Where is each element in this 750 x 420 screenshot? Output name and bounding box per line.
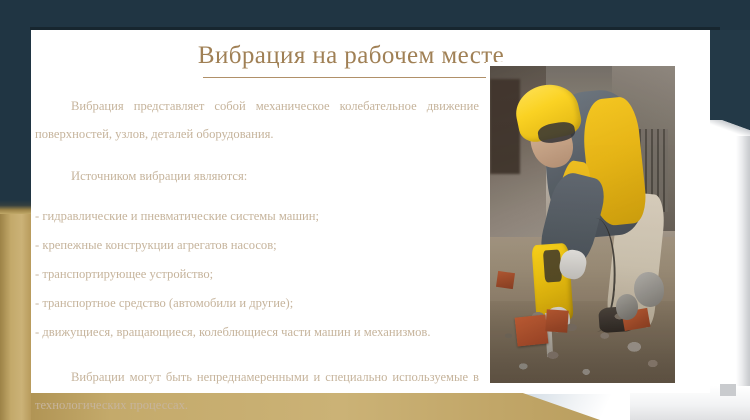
page-edge-right (736, 128, 750, 388)
paragraph-closing: Вибрации могут быть непреднамеренными и … (35, 363, 479, 419)
left-navy-band (0, 0, 31, 212)
right-navy-band-tail (708, 120, 750, 136)
slide-image-frame (486, 62, 679, 387)
slide-canvas: Вибрация на рабочем месте Вибрация предс… (31, 30, 710, 393)
left-band-joint (0, 200, 31, 214)
image-tone-overlay (490, 66, 675, 383)
list-item: - транспортирующее устройство; (35, 260, 479, 289)
paragraph-definition: Вибрация представляет собой механическое… (35, 92, 479, 148)
slide-body: Вибрация представляет собой механическое… (31, 92, 479, 419)
left-gold-band (0, 205, 31, 420)
list-item: - движущиеся, вращающиеся, колеблющиеся … (35, 318, 479, 347)
top-navy-band (0, 0, 750, 30)
list-item: - гидравлические и пневматические систем… (35, 202, 479, 231)
page-edge-corner (720, 384, 736, 396)
presentation-slide: Вибрация на рабочем месте Вибрация предс… (0, 0, 750, 420)
paragraph-sources-lead: Источником вибрации являются: (35, 162, 479, 190)
list-item: - транспортное средство (автомобили и др… (35, 289, 479, 318)
construction-worker-image (490, 66, 675, 383)
list-item: - крепежные конструкции агрегатов насосо… (35, 231, 479, 260)
title-underline (203, 77, 503, 78)
